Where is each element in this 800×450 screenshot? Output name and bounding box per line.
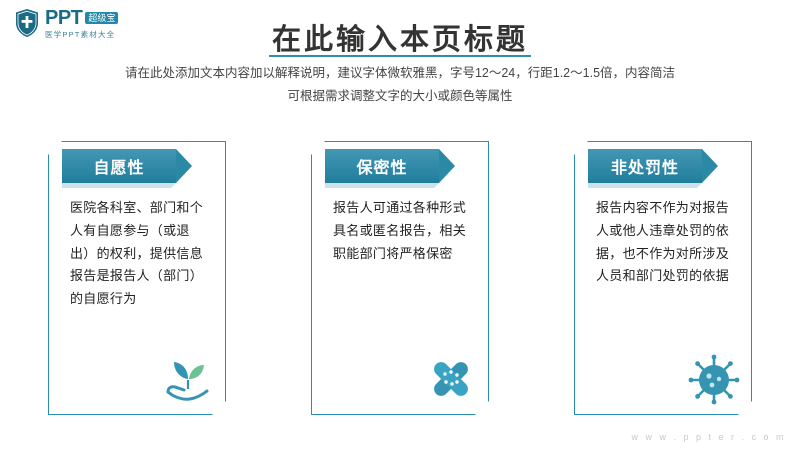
bandage-cross-icon <box>425 353 477 405</box>
ribbon-shadow <box>325 183 439 188</box>
ribbon-arrow-icon <box>439 149 455 183</box>
card-body-text: 报告内容不作为对报告人或他人违章处罚的依据，也不作为对所涉及人员和部门处罚的依据 <box>596 197 734 288</box>
card-body-text: 报告人可通过各种形式具名或匿名报告，相关职能部门将严格保密 <box>333 197 471 265</box>
card-voluntary[interactable]: 自愿性 医院各科室、部门和个人有自愿参与（或退出）的权利，提供信息报告是报告人（… <box>48 141 226 415</box>
card-ribbon: 自愿性 <box>62 149 176 183</box>
page-title: 在此输入本页标题 <box>0 16 800 58</box>
ribbon-shadow <box>588 183 702 188</box>
footer-watermark: w w w . p p t e r . c o m <box>631 432 786 442</box>
ribbon-shadow <box>62 183 176 188</box>
subtitle-line-2: 可根据需求调整文字的大小或颜色等属性 <box>0 85 800 108</box>
card-label: 自愿性 <box>93 154 144 178</box>
card-non-punitive[interactable]: 非处罚性 报告内容不作为对报告人或他人违章处罚的依据，也不作为对所涉及人员和部门… <box>574 141 752 415</box>
card-label: 非处罚性 <box>611 154 679 178</box>
card-ribbon: 非处罚性 <box>588 149 702 183</box>
card-confidential[interactable]: 保密性 报告人可通过各种形式具名或匿名报告，相关职能部门将严格保密 <box>311 141 489 415</box>
subtitle-line-1: 请在此处添加文本内容加以解释说明，建议字体微软雅黑，字号12～24，行距1.2～… <box>0 62 800 85</box>
ribbon-arrow-icon <box>702 149 718 183</box>
page-subtitle: 请在此处添加文本内容加以解释说明，建议字体微软雅黑，字号12～24，行距1.2～… <box>0 62 800 108</box>
card-body-text: 医院各科室、部门和个人有自愿参与（或退出）的权利，提供信息报告是报告人（部门）的… <box>70 197 208 311</box>
ribbon-arrow-icon <box>176 149 192 183</box>
plant-in-hand-icon <box>162 353 214 405</box>
title-underline <box>269 55 531 57</box>
card-row: 自愿性 医院各科室、部门和个人有自愿参与（或退出）的权利，提供信息报告是报告人（… <box>0 141 800 415</box>
card-label: 保密性 <box>356 154 407 178</box>
card-ribbon: 保密性 <box>325 149 439 183</box>
virus-icon <box>688 353 740 405</box>
slide-canvas: PPT 超级宝 医学PPT素材大全 在此输入本页标题 请在此处添加文本内容加以解… <box>0 0 800 450</box>
